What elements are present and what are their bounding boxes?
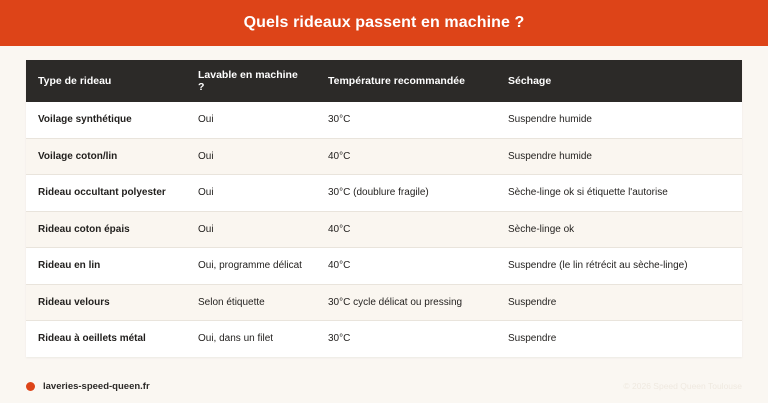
cell-lavable: Oui, dans un filet xyxy=(186,321,316,357)
cell-temperature: 30°C (doublure fragile) xyxy=(316,175,496,212)
table-row: Rideau à oeillets métal Oui, dans un fil… xyxy=(26,321,742,357)
table-row: Voilage synthétique Oui 30°C Suspendre h… xyxy=(26,102,742,138)
cell-sechage: Suspendre xyxy=(496,321,742,357)
cell-type: Voilage synthétique xyxy=(26,102,186,138)
column-header-lavable: Lavable en machine ? xyxy=(186,60,316,102)
column-header-sechage: Séchage xyxy=(496,60,742,102)
table-row: Rideau velours Selon étiquette 30°C cycl… xyxy=(26,284,742,321)
cell-type: Rideau à oeillets métal xyxy=(26,321,186,357)
cell-temperature: 30°C cycle délicat ou pressing xyxy=(316,284,496,321)
cell-type: Voilage coton/lin xyxy=(26,138,186,175)
cell-type: Rideau velours xyxy=(26,284,186,321)
cell-type: Rideau coton épais xyxy=(26,211,186,248)
table-row: Voilage coton/lin Oui 40°C Suspendre hum… xyxy=(26,138,742,175)
curtain-washing-table: Type de rideau Lavable en machine ? Temp… xyxy=(26,60,742,357)
table-container: Type de rideau Lavable en machine ? Temp… xyxy=(26,60,742,357)
footer-brand-group: laveries-speed-queen.fr xyxy=(26,381,150,392)
table-body: Voilage synthétique Oui 30°C Suspendre h… xyxy=(26,102,742,357)
cell-sechage: Suspendre (le lin rétrécit au sèche-ling… xyxy=(496,248,742,285)
infographic-page: Quels rideaux passent en machine ? Type … xyxy=(0,0,768,403)
table-row: Rideau occultant polyester Oui 30°C (dou… xyxy=(26,175,742,212)
cell-lavable: Oui xyxy=(186,102,316,138)
cell-sechage: Sèche-linge ok si étiquette l'autorise xyxy=(496,175,742,212)
column-header-type: Type de rideau xyxy=(26,60,186,102)
footer-brand-label: laveries-speed-queen.fr xyxy=(43,381,150,392)
cell-lavable: Oui xyxy=(186,175,316,212)
cell-lavable: Selon étiquette xyxy=(186,284,316,321)
cell-sechage: Sèche-linge ok xyxy=(496,211,742,248)
cell-sechage: Suspendre humide xyxy=(496,102,742,138)
column-header-temperature: Température recommandée xyxy=(316,60,496,102)
table-header-row: Type de rideau Lavable en machine ? Temp… xyxy=(26,60,742,102)
cell-temperature: 30°C xyxy=(316,102,496,138)
table-row: Rideau en lin Oui, programme délicat 40°… xyxy=(26,248,742,285)
page-title: Quels rideaux passent en machine ? xyxy=(244,14,525,32)
cell-lavable: Oui, programme délicat xyxy=(186,248,316,285)
dot-icon xyxy=(26,382,35,391)
cell-sechage: Suspendre xyxy=(496,284,742,321)
header-bar: Quels rideaux passent en machine ? xyxy=(0,0,768,46)
cell-type: Rideau en lin xyxy=(26,248,186,285)
cell-sechage: Suspendre humide xyxy=(496,138,742,175)
cell-temperature: 40°C xyxy=(316,248,496,285)
cell-lavable: Oui xyxy=(186,138,316,175)
cell-temperature: 30°C xyxy=(316,321,496,357)
footer-bar: laveries-speed-queen.fr © 2026 Speed Que… xyxy=(0,369,768,403)
footer-copyright: © 2026 Speed Queen Toulouse xyxy=(623,381,742,391)
cell-lavable: Oui xyxy=(186,211,316,248)
cell-temperature: 40°C xyxy=(316,211,496,248)
table-header: Type de rideau Lavable en machine ? Temp… xyxy=(26,60,742,102)
table-row: Rideau coton épais Oui 40°C Sèche-linge … xyxy=(26,211,742,248)
cell-type: Rideau occultant polyester xyxy=(26,175,186,212)
cell-temperature: 40°C xyxy=(316,138,496,175)
